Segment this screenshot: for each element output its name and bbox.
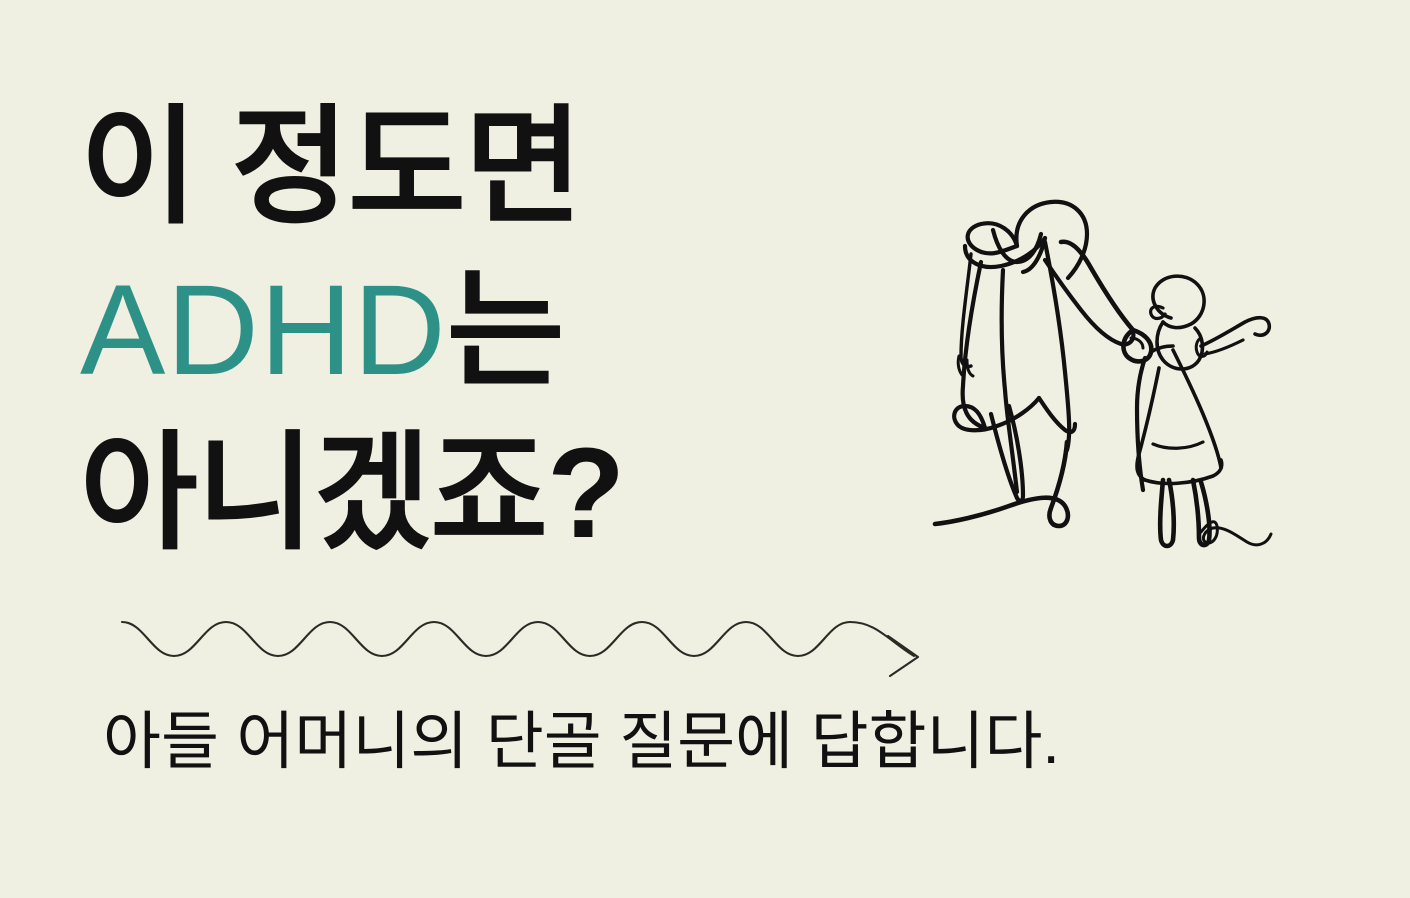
mother-and-child-line-art-icon bbox=[905, 150, 1305, 570]
subtitle-text: 아들 어머니의 단골 질문에 답합니다. bbox=[103, 700, 1060, 784]
mother-and-child-illustration bbox=[905, 150, 1305, 570]
headline-block: 이 정도면 ADHD는 아니겠죠? bbox=[80, 86, 840, 575]
headline-accent-adhd: ADHD bbox=[80, 259, 447, 402]
headline-line-2-suffix: 는 bbox=[447, 259, 564, 402]
headline-line-1: 이 정도면 bbox=[80, 86, 840, 249]
wavy-arrow-right-icon bbox=[108, 600, 938, 680]
wavy-arrow-divider bbox=[108, 600, 938, 680]
poster-canvas: 이 정도면 ADHD는 아니겠죠? 아들 어머니의 단골 질문에 답합니다. bbox=[0, 0, 1410, 898]
headline-line-2: ADHD는 bbox=[80, 249, 840, 412]
headline-line-3: 아니겠죠? bbox=[80, 412, 840, 575]
